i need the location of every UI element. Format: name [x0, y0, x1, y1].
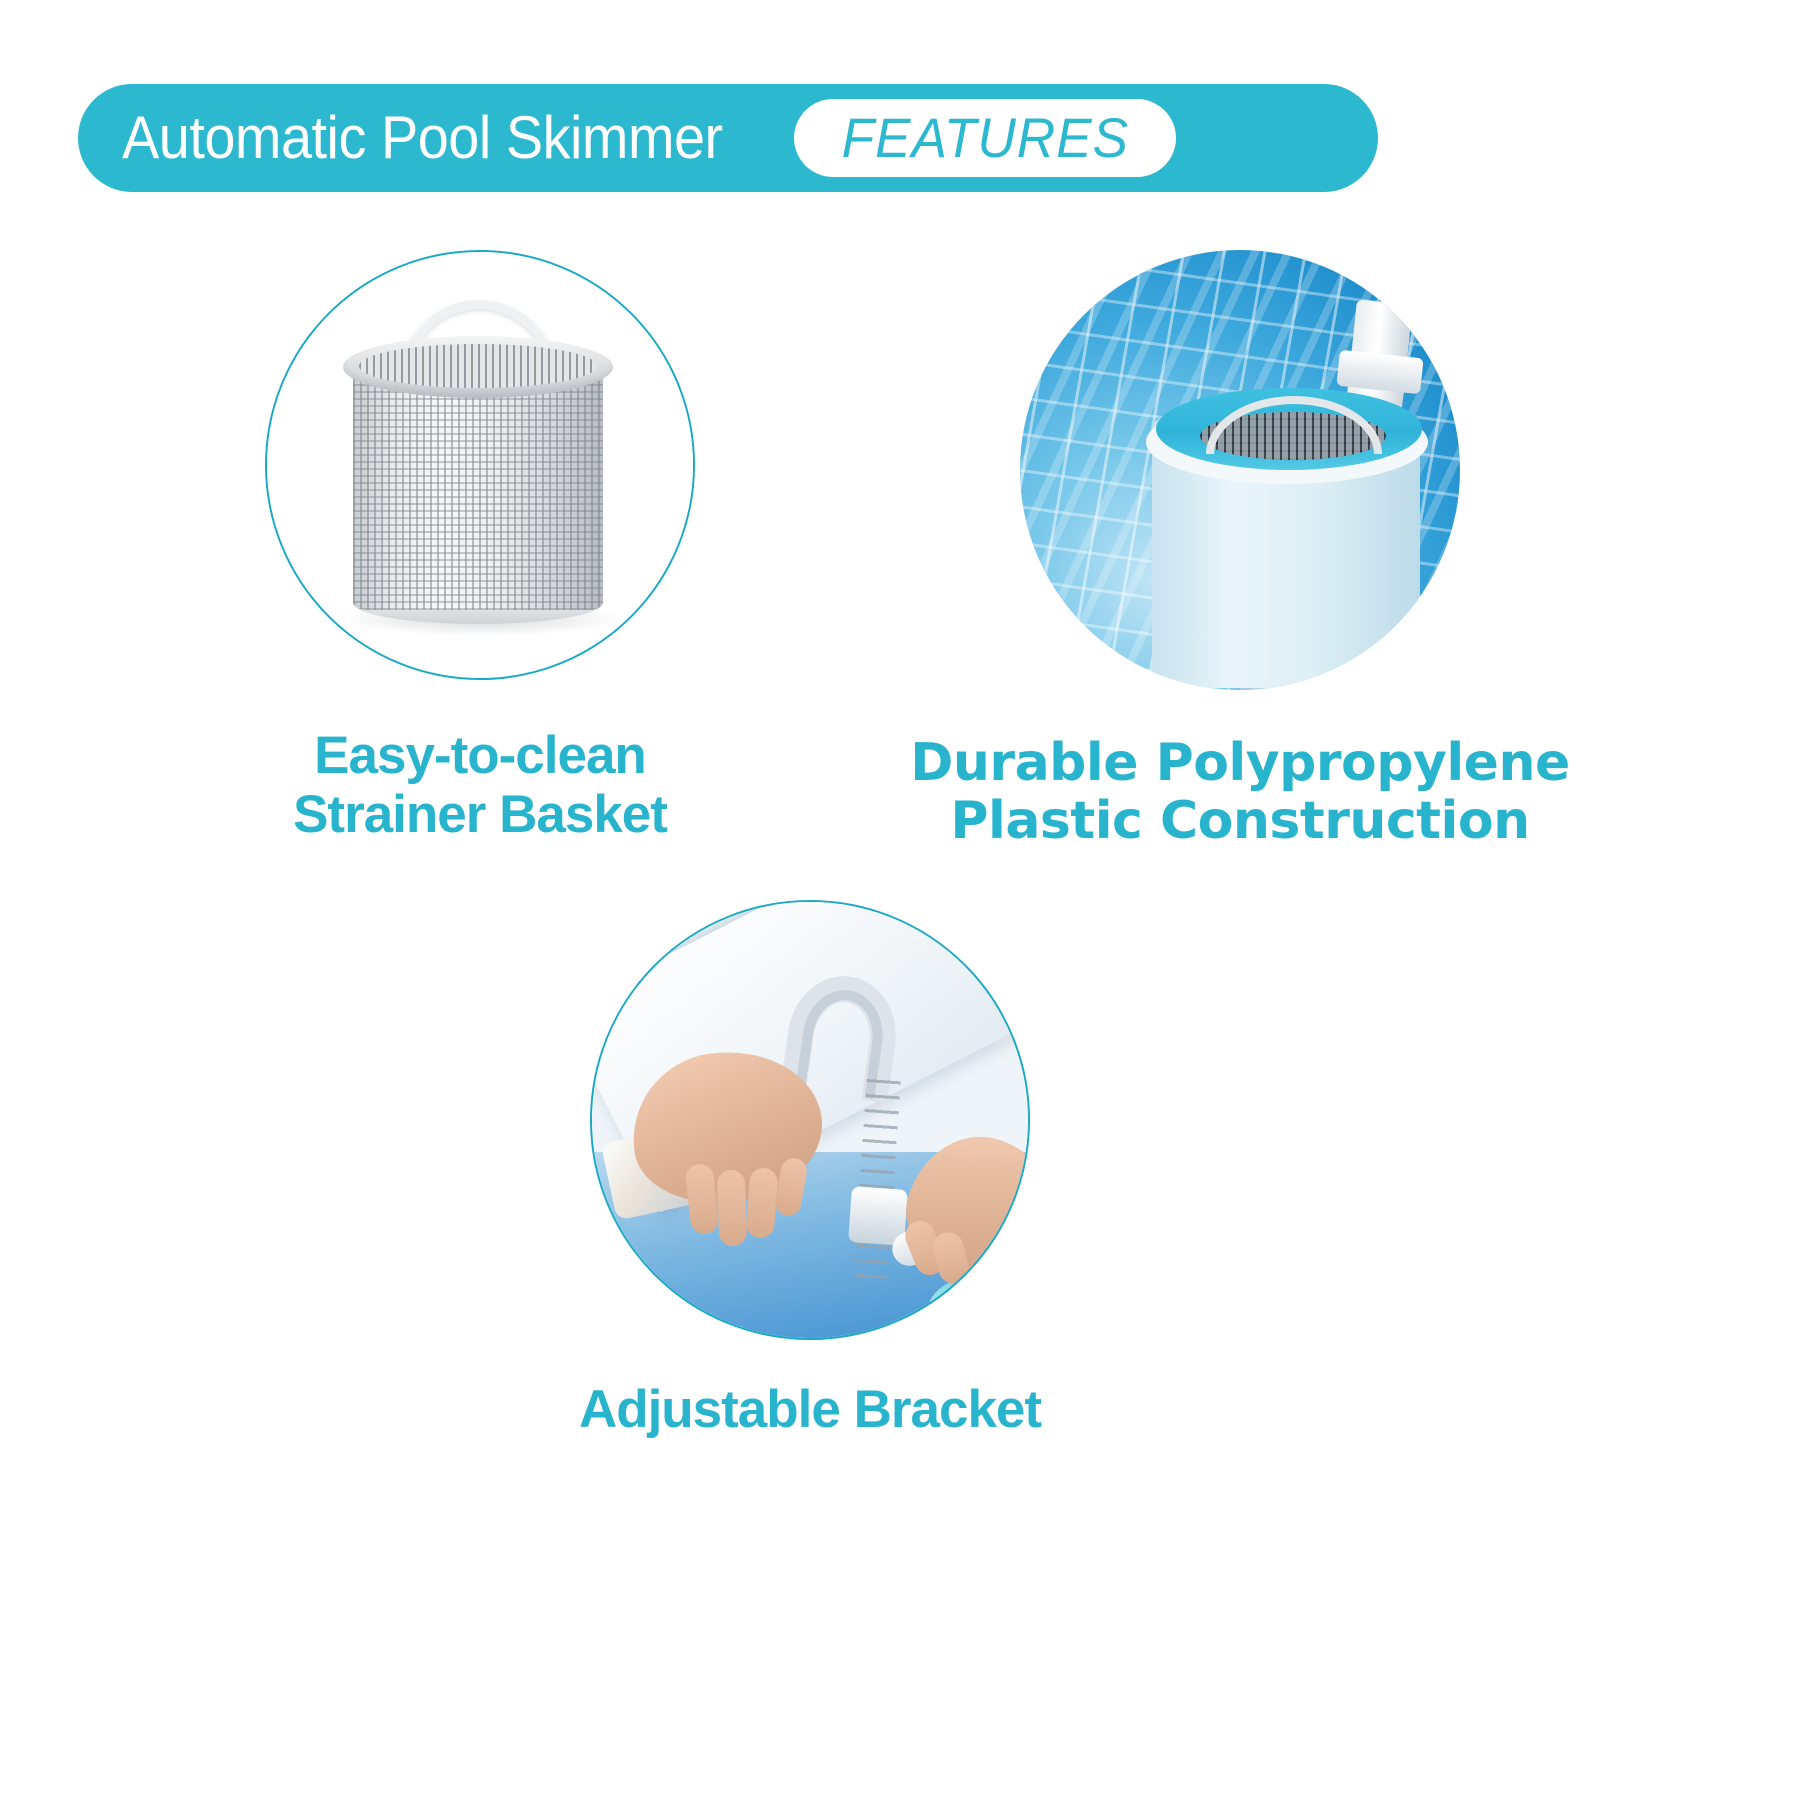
strainer-basket-illustration — [267, 252, 693, 678]
pool-skimmer-illustration — [1020, 250, 1460, 690]
feature-card-strainer-basket: Easy-to-clean Strainer Basket — [170, 250, 790, 845]
features-badge: FEATURES — [794, 99, 1177, 177]
adjustable-bracket-illustration — [592, 902, 1028, 1338]
feature-image-adjustable-bracket — [590, 900, 1030, 1340]
feature-card-plastic-construction: Durable Polypropylene Plastic Constructi… — [860, 250, 1620, 850]
feature-image-strainer-basket — [265, 250, 695, 680]
basket-rim-inner-mesh — [359, 344, 597, 388]
features-badge-label: FEATURES — [841, 110, 1128, 166]
feature-caption-adjustable-bracket: Adjustable Bracket — [430, 1380, 1190, 1439]
feature-image-plastic-construction — [1020, 250, 1460, 690]
left-hand-finger — [746, 1167, 779, 1239]
page-title: Automatic Pool Skimmer — [122, 108, 723, 168]
left-hand-finger — [717, 1170, 748, 1247]
feature-caption-strainer-basket: Easy-to-clean Strainer Basket — [170, 726, 790, 845]
feature-caption-plastic-construction: Durable Polypropylene Plastic Constructi… — [860, 734, 1620, 850]
feature-card-adjustable-bracket: Adjustable Bracket — [430, 900, 1190, 1439]
header-banner: Automatic Pool Skimmer FEATURES — [78, 84, 1378, 192]
